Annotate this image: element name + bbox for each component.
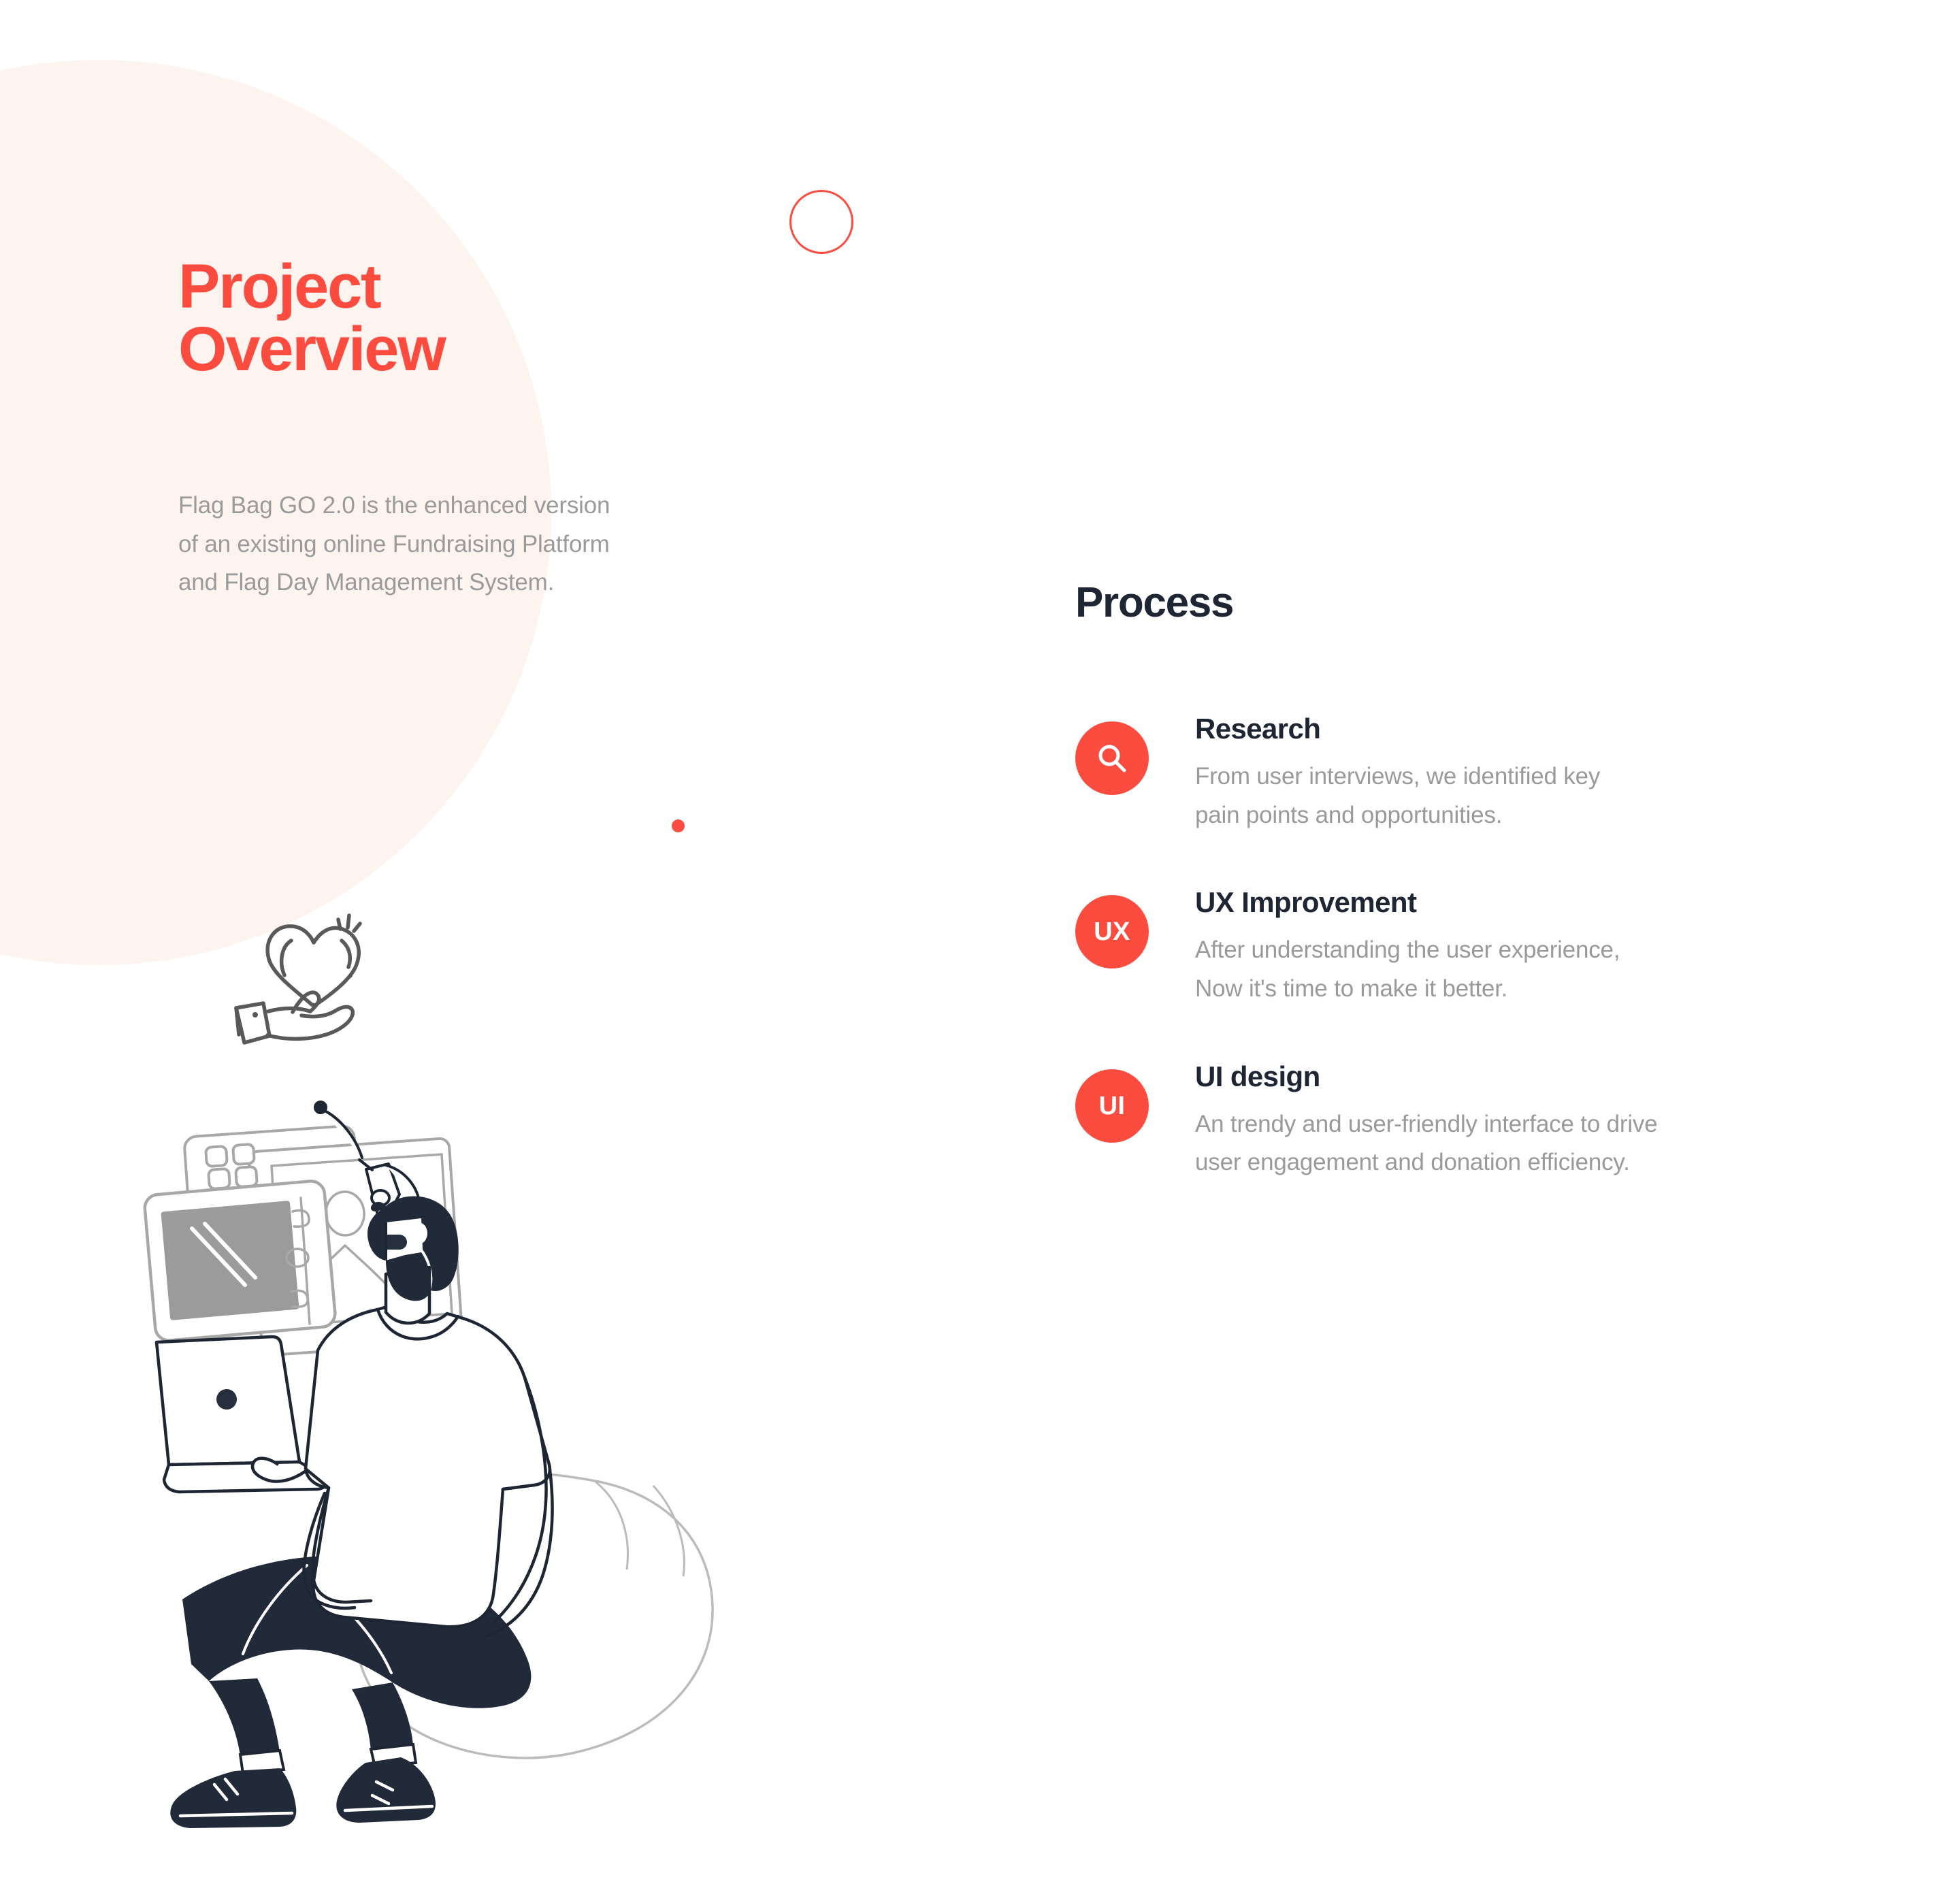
step-body-ui-design: UI design An trendy and user-friendly in… — [1195, 1061, 1658, 1182]
overview-column: Project Overview Flag Bag GO 2.0 is the … — [0, 0, 987, 1888]
designer-with-laptop-illustration — [146, 1089, 868, 1790]
step-badge-ux: UX — [1075, 895, 1149, 969]
page-title: Project Overview — [178, 255, 445, 380]
step-badge-label-ux: UX — [1094, 919, 1130, 945]
step-title-research: Research — [1195, 715, 1600, 743]
step-description-research: From user interviews, we identified key … — [1195, 758, 1600, 834]
search-icon — [1094, 740, 1130, 776]
step-description-ui-design: An trendy and user-friendly interface to… — [1195, 1105, 1658, 1182]
step-title-ui-design: UI design — [1195, 1062, 1658, 1091]
step-badge-research — [1075, 721, 1149, 795]
hand-holding-heart-icon — [225, 909, 395, 1062]
process-heading: Process — [1075, 582, 1233, 624]
step-title-ux-improvement: UX Improvement — [1195, 888, 1620, 917]
step-badge-ui: UI — [1075, 1069, 1149, 1143]
process-step-ux-improvement[interactable]: UX UX Improvement After understanding th… — [1075, 887, 1940, 1008]
process-step-ui-design[interactable]: UI UI design An trendy and user-friendly… — [1075, 1061, 1940, 1182]
process-step-research[interactable]: Research From user interviews, we identi… — [1075, 713, 1940, 834]
step-badge-label-ui: UI — [1099, 1093, 1126, 1119]
step-description-ux-improvement: After understanding the user experience,… — [1195, 931, 1620, 1008]
step-body-research: Research From user interviews, we identi… — [1195, 713, 1600, 834]
overview-description: Flag Bag GO 2.0 is the enhanced version … — [178, 487, 777, 602]
step-body-ux-improvement: UX Improvement After understanding the u… — [1195, 887, 1620, 1008]
process-step-list: Research From user interviews, we identi… — [1075, 713, 1940, 1182]
